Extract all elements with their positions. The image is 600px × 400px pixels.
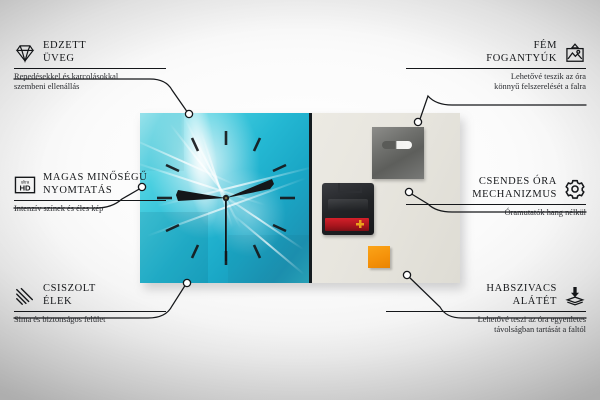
callout-metal-hangers: FÉM FOGANTYÚK Lehetővé teszik az óra kön… [406, 40, 586, 93]
infographic-canvas: EDZETT ÜVEG Repedésekkel és karcolásokka… [0, 0, 600, 400]
callout-divider [14, 311, 166, 312]
callout-divider [386, 311, 586, 312]
callout-title: EDZETT ÜVEG [43, 40, 86, 65]
callout-foam-pad: HABSZIVACS ALÁTÉT Lehetővé teszi az óra … [386, 283, 586, 336]
callout-high-quality-print: ultra HD MAGAS MINŐSÉGŰ NYOMTATÁS Intenz… [14, 172, 166, 214]
callout-title: FÉM FOGANTYÚK [486, 40, 557, 65]
connector-dot-polished-edges [183, 279, 190, 286]
connector-dot-tempered-glass [185, 110, 192, 117]
callout-heading: EDZETT ÜVEG [14, 40, 166, 65]
callout-title: CSISZOLT ÉLEK [43, 283, 96, 308]
svg-text:HD: HD [19, 183, 31, 192]
callout-title: HABSZIVACS ALÁTÉT [486, 283, 557, 308]
callout-title: CSENDES ÓRA MECHANIZMUS [472, 176, 557, 201]
callout-divider [406, 204, 586, 205]
ultra-hd-icon: ultra HD [14, 174, 36, 196]
callout-heading: FÉM FOGANTYÚK [406, 40, 586, 65]
callout-heading: HABSZIVACS ALÁTÉT [386, 283, 586, 308]
callout-divider [14, 68, 166, 69]
callout-heading: CSENDES ÓRA MECHANIZMUS [406, 176, 586, 201]
connector-dot-hangers [414, 118, 421, 125]
gear-icon [564, 178, 586, 200]
callout-divider [14, 200, 166, 201]
callout-silent-mechanism: CSENDES ÓRA MECHANIZMUS Óramutatók hang … [406, 176, 586, 218]
foam-pad-icon [564, 285, 586, 307]
callout-heading: ultra HD MAGAS MINŐSÉGŰ NYOMTATÁS [14, 172, 166, 197]
callout-heading: CSISZOLT ÉLEK [14, 283, 166, 308]
callout-polished-edges: CSISZOLT ÉLEK Sima és biztonságos felüle… [14, 283, 166, 325]
callout-title: MAGAS MINŐSÉGŰ NYOMTATÁS [43, 172, 147, 197]
connector-line-hangers [424, 94, 586, 120]
callout-divider [406, 68, 586, 69]
connector-dot-foam [403, 271, 410, 278]
picture-hanger-icon [564, 42, 586, 64]
connector-line-hangers-visible [419, 96, 586, 122]
callout-tempered-glass: EDZETT ÜVEG Repedésekkel és karcolásokka… [14, 40, 166, 93]
diamond-icon [14, 42, 36, 64]
polished-edges-icon [14, 285, 36, 307]
